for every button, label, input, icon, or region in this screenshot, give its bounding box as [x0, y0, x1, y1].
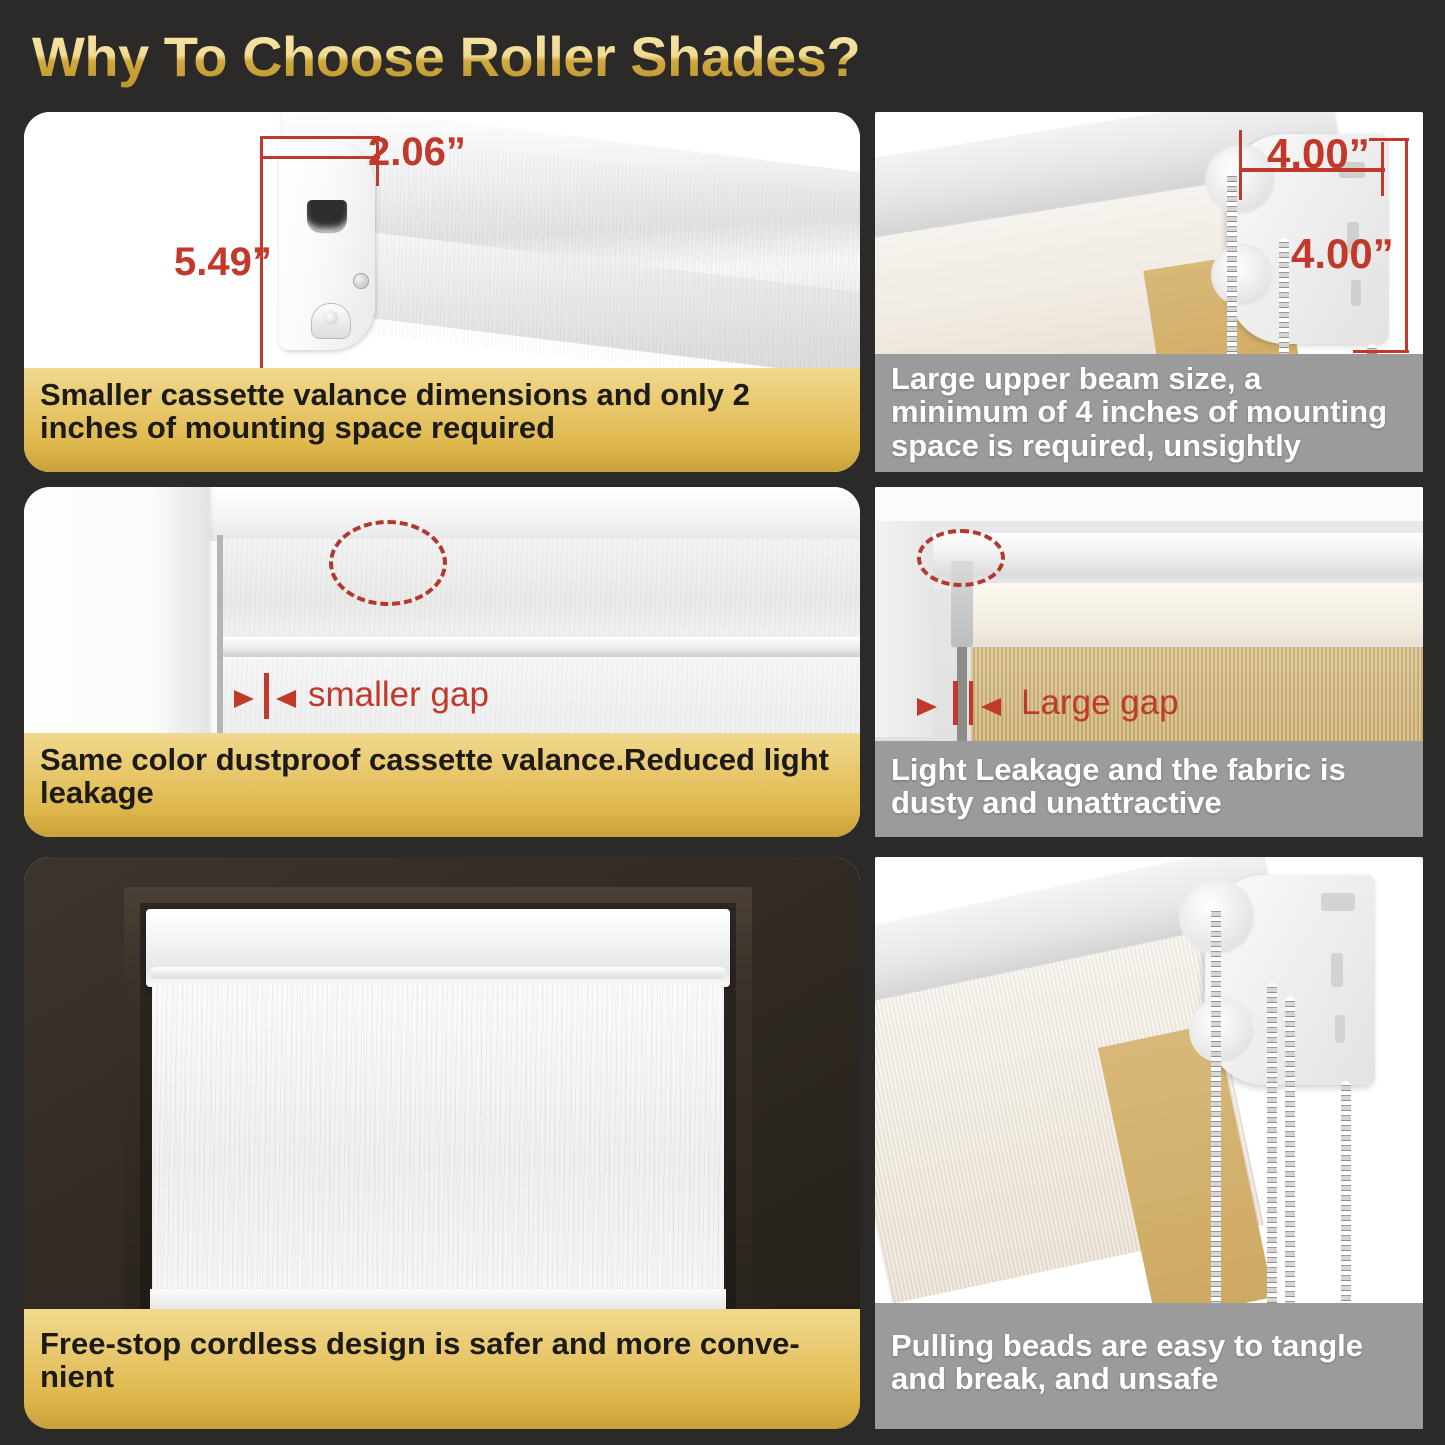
- highlight-ellipse: [329, 520, 447, 606]
- width-dimension-label: 2.06”: [368, 130, 466, 175]
- gap-arrow-left-icon: [234, 690, 254, 708]
- shade-left-edge: [217, 535, 223, 747]
- comparison-grid: 2.06” 5.49” Smaller cassette valance dim…: [0, 0, 1445, 1445]
- cassette-valance: [222, 539, 860, 643]
- infographic-page: Why To Choose Roller Shades? 2.06”: [0, 0, 1445, 1445]
- highlight-ellipse: [917, 529, 1005, 587]
- beam-height-tick-top: [1369, 138, 1409, 141]
- panel-caption: Same color dustproof cassette valance.Re…: [24, 733, 860, 837]
- beam-height-label: 4.00”: [1291, 230, 1394, 278]
- bead-chain-mid: [1267, 983, 1277, 1307]
- gap-arrow-right-icon: [981, 698, 1001, 716]
- panel-pulling-beads: Pulling beads are easy to tangle and bre…: [875, 857, 1423, 1429]
- panel-cordless-design: Free-stop cordless design is safer and m…: [24, 857, 860, 1429]
- panel-light-leakage: Large gap Light Leakage and the fabric i…: [875, 487, 1423, 837]
- cassette-knob: [312, 304, 350, 338]
- cassette-slot: [307, 200, 347, 232]
- panel-dustproof-valance: smaller gap Same color dustproof cassett…: [24, 487, 860, 837]
- valance-rail: [222, 637, 860, 657]
- ceiling: [875, 487, 1423, 521]
- gap-arrow-left-icon: [917, 698, 937, 716]
- beam-width-tick-left: [1239, 130, 1242, 200]
- beam-height-tick-bottom: [1353, 350, 1409, 353]
- beam-width-tick-right: [1381, 142, 1384, 196]
- panel-caption: Smaller cassette valance dimensions and …: [24, 368, 860, 472]
- gap-callout-label: Large gap: [1021, 683, 1179, 723]
- valance-strip: [963, 583, 1423, 645]
- height-dimension-label: 5.49”: [174, 240, 272, 285]
- bead-chain-front: [1211, 907, 1221, 1307]
- shade-bottom-bar: [150, 1289, 726, 1311]
- beam-width-label: 4.00”: [1267, 130, 1370, 178]
- panel-caption: Light Leakage and the fabric is dusty an…: [875, 741, 1423, 837]
- bead-chain-mid-2: [1285, 997, 1295, 1307]
- bead-chain-back: [1341, 1081, 1351, 1307]
- panel-cassette-dimensions: 2.06” 5.49” Smaller cassette valance dim…: [24, 112, 860, 472]
- gap-callout-label: smaller gap: [308, 675, 489, 715]
- height-tick-top: [260, 136, 318, 139]
- cassette-screw: [354, 274, 368, 288]
- bead-wheel-bottom: [1191, 999, 1253, 1061]
- gap-arrow-right-icon: [276, 690, 296, 708]
- light-gap: [957, 647, 967, 743]
- window-head-molding: [200, 487, 860, 541]
- panel-large-upper-beam: 4.00” 4.00” Large upper beam size, a min…: [875, 112, 1423, 472]
- panel-caption: Large upper beam size, a minimum of 4 in…: [875, 354, 1423, 472]
- panel-caption: Free-stop cordless design is safer and m…: [24, 1309, 860, 1429]
- bead-wheel-bottom: [1213, 246, 1271, 304]
- roller-tube: [933, 533, 1423, 589]
- width-line: [260, 156, 380, 159]
- gap-marker-b: [969, 681, 973, 725]
- shade-fabric: [152, 985, 724, 1305]
- gap-marker: [264, 673, 269, 719]
- panel-caption: Pulling beads are easy to tangle and bre…: [875, 1303, 1423, 1429]
- window-frame-left: [154, 487, 210, 743]
- gap-marker-a: [953, 681, 958, 725]
- cassette-valance: [146, 909, 730, 987]
- beam-height-line: [1405, 138, 1408, 352]
